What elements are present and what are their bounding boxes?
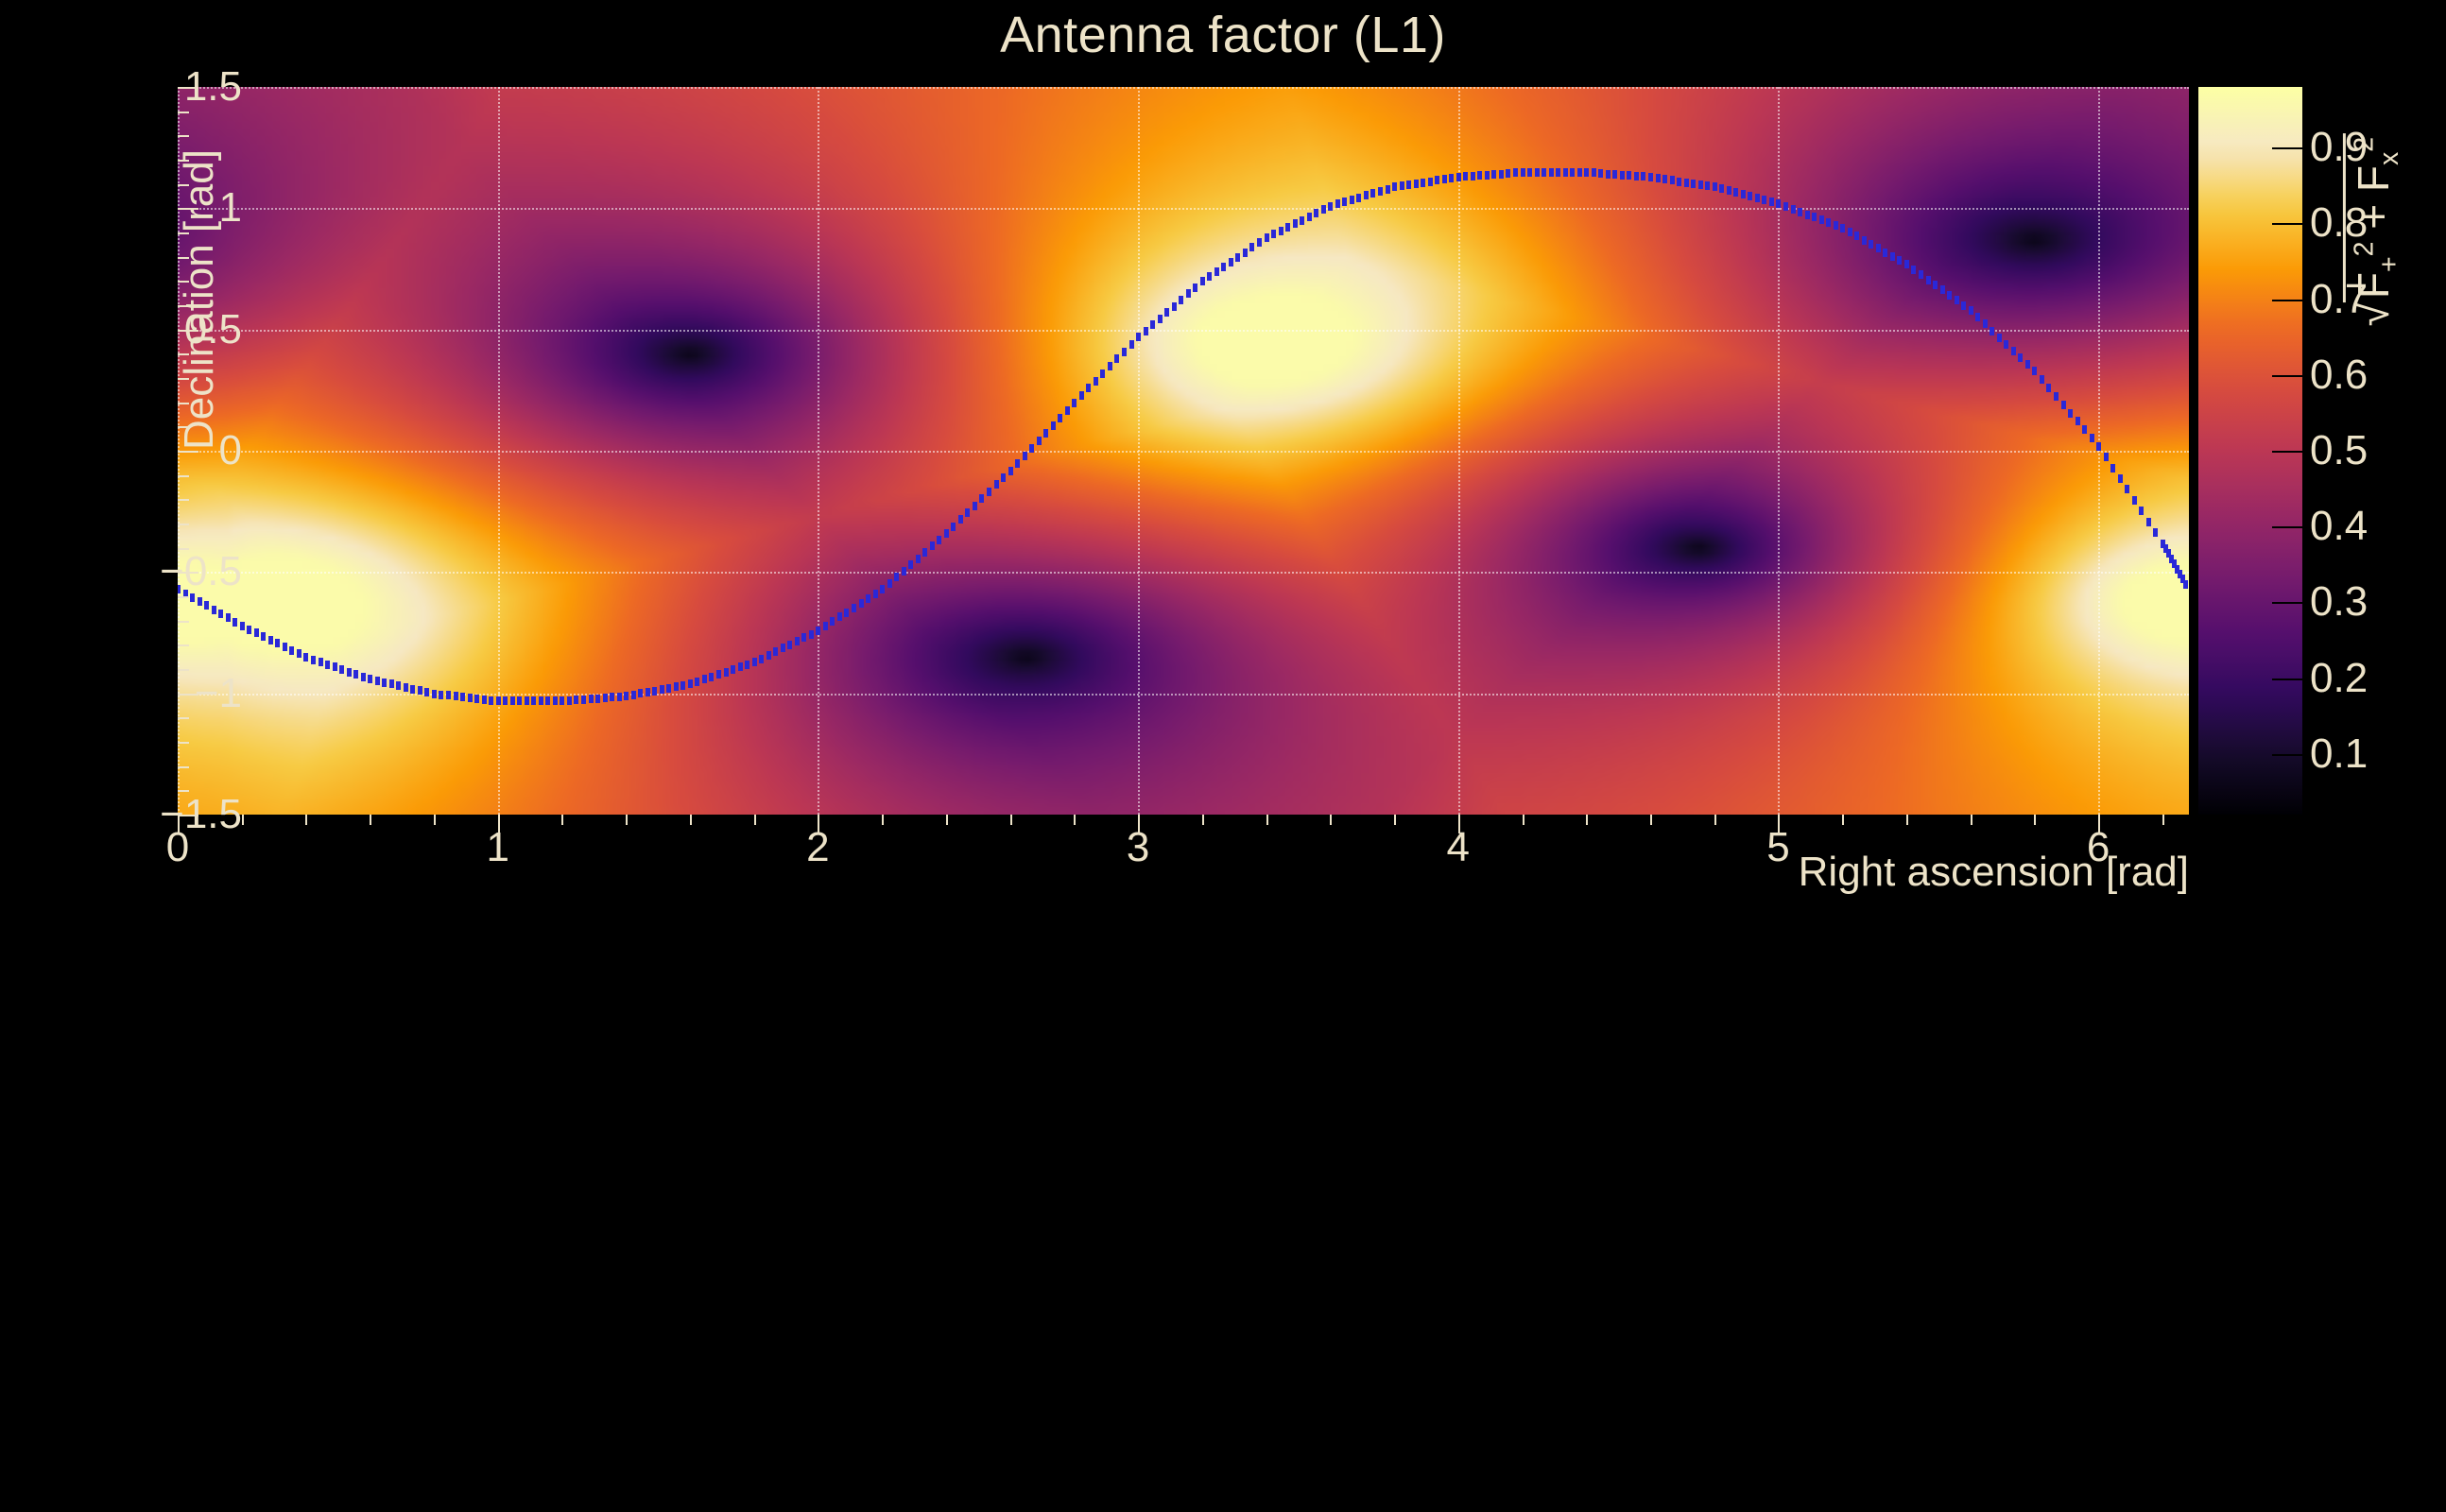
curve-point <box>1172 302 1177 311</box>
curve-point <box>1456 173 1461 181</box>
curve-point <box>474 695 479 703</box>
curve-point <box>396 681 401 690</box>
curve-point <box>589 695 594 703</box>
curve-point <box>1094 377 1098 386</box>
x-tick-mark-minor <box>1074 815 1076 825</box>
x-tick-mark-minor <box>1330 815 1332 825</box>
curve-point <box>1854 232 1859 240</box>
term1-sub: + <box>2374 256 2404 272</box>
curve-point <box>418 686 422 695</box>
curve-point <box>680 681 685 690</box>
curve-point <box>1961 301 1966 310</box>
curve-point <box>1733 188 1738 197</box>
x-tick-mark-minor <box>1202 815 1204 825</box>
curve-point <box>1513 168 1518 177</box>
curve-point <box>1136 333 1141 341</box>
curve-point <box>1392 182 1397 191</box>
curve-point <box>1158 315 1163 323</box>
colorbar-title-text: √F+2 + Fx2 <box>2343 69 2405 390</box>
colorbar-tick-mark <box>2272 147 2302 149</box>
curve-point <box>1023 452 1027 460</box>
curve-point <box>1350 196 1354 204</box>
curve-point <box>1414 180 1419 188</box>
curve-point <box>951 523 956 531</box>
curve-point <box>1249 243 1254 251</box>
curve-point <box>1279 227 1283 235</box>
curve-point <box>801 633 806 642</box>
curve-point <box>1029 444 1034 453</box>
term2-base: F <box>2349 165 2398 192</box>
curve-point <box>496 696 501 705</box>
curve-point <box>1755 194 1760 202</box>
curve-point <box>1791 205 1796 214</box>
curve-point <box>1926 276 1931 284</box>
curve-point <box>1805 211 1810 219</box>
curve-point <box>2183 580 2188 589</box>
curve-point <box>1193 283 1197 292</box>
colorbar-tick-mark <box>2272 679 2302 680</box>
colorbar-tick-label: 0.2 <box>2310 655 2368 702</box>
curve-point <box>1670 176 1675 184</box>
curve-point <box>738 662 743 671</box>
curve-point <box>1812 213 1817 221</box>
y-axis-title: Declination [rad] <box>49 87 350 815</box>
curve-point <box>2125 485 2129 493</box>
curve-point <box>1656 174 1661 182</box>
curve-point <box>489 696 493 705</box>
curve-point <box>830 617 835 626</box>
curve-point <box>1491 170 1496 179</box>
operator: + <box>2349 204 2398 230</box>
curve-point <box>1015 459 1020 468</box>
curve-point <box>1691 180 1696 188</box>
curve-point <box>1748 192 1752 200</box>
curve-point <box>1848 228 1852 236</box>
x-tick-mark-minor <box>626 815 628 825</box>
x-tick-mark <box>498 815 500 833</box>
curve-point <box>517 696 522 705</box>
curve-point <box>1485 171 1490 180</box>
curve-point <box>1065 406 1070 415</box>
curve-point <box>2032 367 2037 375</box>
curve-point <box>1584 168 1589 177</box>
curve-point <box>894 573 899 581</box>
curve-point <box>1947 291 1952 300</box>
colorbar-title: √F+2 + Fx2 <box>2317 66 2431 387</box>
x-tick-mark-minor <box>946 815 948 825</box>
curve-point <box>731 665 735 674</box>
curve-point <box>1798 208 1802 216</box>
curve-point <box>1983 319 1988 328</box>
curve-point <box>1990 327 1994 335</box>
curve-point <box>574 696 578 704</box>
curve-point <box>382 679 387 687</box>
curve-point <box>1606 170 1611 179</box>
curve-point <box>1477 171 1482 180</box>
curve-point <box>1662 175 1667 183</box>
curve-point <box>2146 518 2151 526</box>
curve-point <box>1612 170 1617 179</box>
curve-point <box>1285 223 1290 232</box>
curve-point <box>1207 272 1212 281</box>
x-tick-mark-minor <box>1714 815 1716 825</box>
curve-point <box>987 488 991 496</box>
curve-point <box>787 641 792 649</box>
sqrt-icon: √ <box>2348 302 2399 326</box>
curve-point <box>1370 189 1375 198</box>
curve-point <box>1713 182 1717 191</box>
curve-point <box>525 696 529 705</box>
curve-point <box>809 630 814 639</box>
x-tick-mark-minor <box>1906 815 1908 825</box>
curve-point <box>539 696 543 705</box>
curve-point <box>503 696 508 705</box>
curve-point <box>1364 191 1369 199</box>
curve-point <box>2061 401 2066 409</box>
curve-point <box>1235 253 1240 262</box>
curve-point <box>353 670 358 679</box>
curve-point <box>773 647 778 656</box>
curve-point <box>1229 258 1233 266</box>
curve-point <box>404 683 408 692</box>
curve-point <box>2040 375 2044 384</box>
curve-point <box>1598 169 1603 178</box>
curve-point <box>1442 175 1447 183</box>
curve-point <box>2076 417 2080 425</box>
curve-point <box>1883 249 1887 257</box>
curve-point <box>1079 391 1084 400</box>
curve-point <box>937 536 941 544</box>
curve-point <box>1293 219 1298 228</box>
curve-point <box>1271 230 1276 238</box>
curve-point <box>1634 172 1639 180</box>
colorbar-tick-mark <box>2272 451 2302 453</box>
curve-point <box>1783 202 1788 211</box>
curve-point <box>1890 252 1895 261</box>
curve-point <box>1570 168 1575 177</box>
curve-point <box>482 696 487 704</box>
curve-point <box>1356 194 1361 202</box>
curve-point <box>965 508 970 517</box>
curve-point <box>1698 180 1703 189</box>
curve-point <box>2110 464 2115 472</box>
curve-point <box>1314 209 1318 217</box>
curve-point <box>460 693 465 701</box>
curve-point <box>1506 169 1510 178</box>
curve-point <box>1776 199 1781 208</box>
curve-point <box>759 655 764 663</box>
x-tick-mark <box>1778 815 1780 833</box>
curve-point <box>880 585 885 593</box>
term2-sup: 2 <box>2350 137 2380 152</box>
curve-point <box>617 693 622 701</box>
curve-point <box>1869 240 1873 249</box>
curve-point <box>2068 409 2073 418</box>
curve-point <box>2090 434 2094 442</box>
x-tick-mark-minor <box>2162 815 2164 825</box>
curve-point <box>2004 340 2008 349</box>
curve-point <box>361 673 366 681</box>
x-tick-mark-minor <box>1842 815 1844 825</box>
curve-point <box>1577 168 1582 177</box>
colorbar-tick-mark <box>2272 223 2302 225</box>
curve-point <box>752 658 757 666</box>
curve-point <box>1122 348 1127 356</box>
curve-point <box>1719 184 1724 193</box>
curve-point <box>979 494 984 503</box>
curve-point <box>1463 172 1468 180</box>
curve-point <box>1114 354 1119 363</box>
curve-point <box>1179 296 1183 304</box>
x-tick-mark <box>2098 815 2100 833</box>
curve-point <box>1257 238 1262 247</box>
curve-point <box>581 696 586 704</box>
curve-point <box>795 637 800 645</box>
x-tick-mark-minor <box>690 815 692 825</box>
curve-point <box>666 684 671 693</box>
curve-point <box>1072 399 1077 407</box>
curve-point <box>2096 442 2101 451</box>
curve-point <box>902 567 906 576</box>
curve-point <box>1627 171 1631 180</box>
curve-point <box>375 677 380 685</box>
curve-point <box>1428 178 1433 186</box>
curve-point <box>702 675 707 683</box>
curve-point <box>2054 392 2058 401</box>
page-title: Antenna factor (L1) <box>0 6 2446 64</box>
colorbar-tick-mark <box>2272 754 2302 756</box>
curve-point <box>1819 215 1824 224</box>
x-tick-mark <box>1458 815 1460 833</box>
curve-point <box>837 612 842 621</box>
curve-point <box>652 687 657 696</box>
curve-point <box>1386 185 1390 194</box>
curve-point <box>1449 174 1454 182</box>
curve-point <box>646 688 650 696</box>
curve-point <box>1200 277 1205 285</box>
curve-point <box>1378 187 1383 196</box>
curve-point <box>1435 176 1439 184</box>
curve-point <box>816 627 820 635</box>
curve-point <box>2132 496 2137 505</box>
y-axis-title-text: Declination [rad] <box>176 149 223 450</box>
curve-point <box>908 560 913 569</box>
x-axis-title: Right ascension [rad] <box>0 849 2189 896</box>
x-tick-mark-minor <box>1971 815 1972 825</box>
curve-point <box>424 688 429 696</box>
curve-point <box>1100 369 1105 378</box>
curve-point <box>1265 233 1269 242</box>
galactic-plane-overlay-curve <box>178 87 2189 815</box>
curve-point <box>873 590 878 598</box>
curve-point <box>781 644 785 652</box>
curve-point <box>410 685 415 694</box>
x-tick-mark-minor <box>882 815 884 825</box>
x-tick-mark-minor <box>2034 815 2036 825</box>
curve-point <box>1321 205 1326 214</box>
curve-point <box>1840 224 1845 232</box>
colorbar-tick-mark <box>2272 300 2302 301</box>
curve-point <box>1535 168 1540 177</box>
term1-base: F <box>2349 272 2398 299</box>
curve-point <box>695 678 699 686</box>
curve-point <box>1705 181 1710 190</box>
curve-point <box>1826 218 1831 227</box>
term2-sub: x <box>2374 152 2404 165</box>
curve-point <box>1406 180 1411 189</box>
colorbar-tick-label: 0.4 <box>2310 503 2368 550</box>
curve-point <box>1108 362 1112 370</box>
curve-point <box>2104 453 2109 461</box>
x-tick-mark-minor <box>242 815 244 825</box>
curve-point <box>2118 474 2123 483</box>
curve-point <box>1307 213 1312 221</box>
curve-point <box>1328 202 1333 211</box>
curve-point <box>2018 353 2023 362</box>
curve-point <box>1741 190 1746 198</box>
curve-point <box>1876 244 1881 252</box>
x-tick-mark-minor <box>434 815 436 825</box>
heatmap-plot-area[interactable] <box>178 87 2189 815</box>
curve-point <box>1150 320 1155 329</box>
x-tick-mark <box>818 815 819 833</box>
curve-point <box>446 691 451 699</box>
curve-point <box>1086 384 1091 392</box>
curve-point <box>944 529 949 538</box>
curve-point <box>916 555 921 563</box>
root-canvas: Antenna factor (L1) 1.510.50−0.5−1−1.5 0… <box>0 0 2446 1512</box>
curve-point <box>2153 528 2158 537</box>
curve-point <box>1037 437 1042 445</box>
term1-sup: 2 <box>2350 242 2380 257</box>
curve-point <box>1997 334 2002 342</box>
curve-point <box>610 693 614 701</box>
x-tick-mark-minor <box>1266 815 1268 825</box>
curve-point <box>1769 198 1774 206</box>
curve-point <box>887 579 892 588</box>
curve-point <box>1043 429 1048 438</box>
curve-point <box>1684 179 1689 187</box>
curve-point <box>1563 168 1568 177</box>
curve-point <box>531 696 536 705</box>
curve-point <box>432 690 437 698</box>
curve-point <box>994 480 999 489</box>
curve-point <box>1300 216 1304 225</box>
curve-point <box>1008 467 1013 475</box>
curve-point <box>595 695 600 703</box>
x-tick-mark-minor <box>1010 815 1012 825</box>
curve-point <box>930 541 935 550</box>
colorbar-tick-label: 0.5 <box>2310 427 2368 474</box>
curve-point <box>660 685 664 694</box>
curve-point <box>1862 236 1867 245</box>
curve-point <box>1919 270 1923 279</box>
curve-point <box>454 692 458 700</box>
curve-point <box>1834 221 1838 230</box>
curve-point <box>1648 173 1653 181</box>
curve-point <box>1335 199 1340 208</box>
curve-point <box>1214 267 1219 276</box>
curve-point <box>1051 421 1056 430</box>
curve-point <box>1620 171 1625 180</box>
curve-point <box>1549 168 1554 177</box>
curve-point <box>439 691 443 699</box>
curve-point <box>560 696 564 705</box>
x-tick-mark-minor <box>1394 815 1396 825</box>
colorbar-tick-label: 0.3 <box>2310 578 2368 626</box>
curve-point <box>545 696 550 705</box>
curve-point <box>510 696 515 705</box>
y-tick-mark <box>178 815 198 816</box>
curve-point <box>1955 296 1959 304</box>
curve-point <box>1400 181 1404 190</box>
x-tick-mark-minor <box>1650 815 1652 825</box>
curve-point <box>688 679 693 688</box>
curve-point <box>389 679 394 688</box>
curve-point <box>1521 168 1525 177</box>
curve-point <box>823 622 828 630</box>
curve-point <box>1897 256 1902 265</box>
x-tick-mark-minor <box>1523 815 1524 825</box>
curve-point <box>1144 327 1148 335</box>
curve-point <box>958 515 963 524</box>
curve-point <box>1221 263 1226 271</box>
colorbar-tick-label: 0.1 <box>2310 730 2368 778</box>
curve-point <box>852 604 856 612</box>
curve-point <box>468 694 473 702</box>
x-tick-mark <box>1138 815 1140 833</box>
curve-point <box>716 670 721 679</box>
curve-point <box>866 594 870 603</box>
curve-point <box>1969 306 1973 315</box>
curve-point <box>859 599 864 608</box>
curve-point <box>674 682 679 691</box>
colorbar-tick-mark <box>2272 375 2302 377</box>
curve-point <box>1727 186 1731 195</box>
curve-point <box>1001 473 1006 482</box>
curve-point <box>1641 172 1645 180</box>
x-tick-mark-minor <box>305 815 307 825</box>
curve-point <box>1904 260 1909 268</box>
curve-point <box>368 675 372 683</box>
curve-point <box>1186 289 1191 298</box>
radicand: F+2 + Fx2 <box>2343 133 2405 302</box>
curve-point <box>1058 414 1062 422</box>
curve-point <box>2025 360 2030 369</box>
curve-point <box>973 502 977 510</box>
curve-point <box>631 691 636 699</box>
curve-point <box>767 651 771 660</box>
curve-point <box>1677 178 1681 186</box>
curve-point <box>724 668 729 677</box>
curve-point <box>567 696 572 705</box>
curve-point <box>1527 168 1532 177</box>
curve-point <box>624 692 629 700</box>
curve-point <box>1499 170 1504 179</box>
curve-point <box>745 661 749 669</box>
curve-point <box>2082 425 2087 434</box>
curve-point <box>603 694 608 702</box>
curve-point <box>2046 384 2051 392</box>
curve-point <box>1542 168 1546 177</box>
x-tick-mark-minor <box>561 815 563 825</box>
curve-point <box>1243 249 1248 257</box>
curve-point <box>1975 313 1980 321</box>
curve-point <box>1911 266 1916 274</box>
curve-point <box>1164 308 1169 317</box>
x-tick-mark <box>178 815 180 833</box>
curve-point <box>638 689 643 697</box>
